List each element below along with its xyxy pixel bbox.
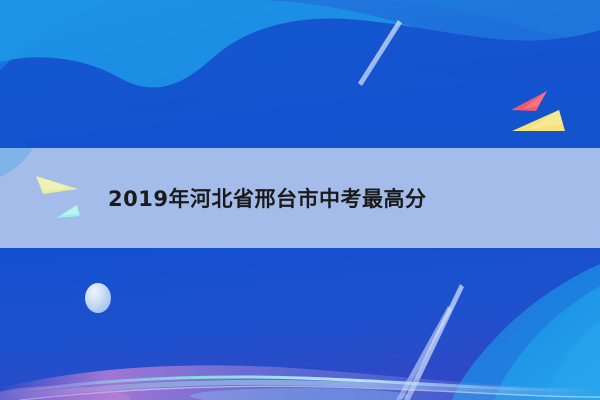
banner-bottom-section bbox=[0, 248, 600, 400]
page-title: 2019年河北省邢台市中考最高分 bbox=[108, 148, 426, 248]
sphere-decoration bbox=[85, 283, 111, 313]
banner-image: 2019年河北省邢台市中考最高分 bbox=[0, 0, 600, 400]
banner-title-band: 2019年河北省邢台市中考最高分 bbox=[0, 148, 600, 248]
cyan-triangle-decoration bbox=[56, 205, 80, 218]
top-wave-graphic bbox=[0, 0, 600, 148]
lime-triangle-decoration bbox=[36, 176, 78, 194]
bottom-graphic bbox=[0, 248, 600, 400]
banner-top-section bbox=[0, 0, 600, 148]
